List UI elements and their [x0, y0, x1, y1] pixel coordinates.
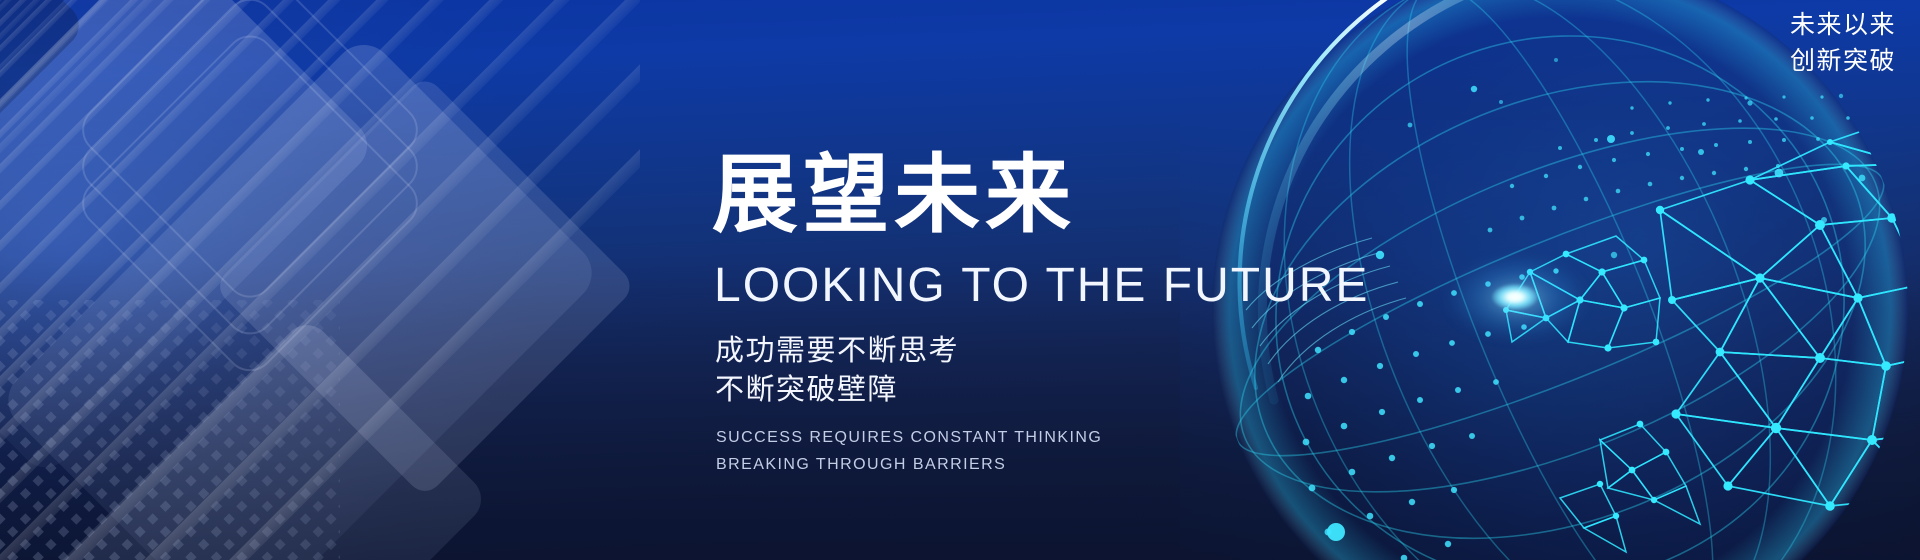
banner-root: 展望未来 LOOKING TO THE FUTURE 成功需要不断思考 不断突破…	[0, 0, 1920, 560]
headline-english: LOOKING TO THE FUTURE	[714, 262, 1472, 310]
headline-chinese: 展望未来	[712, 152, 1472, 238]
subtitle-chinese-line-2: 不断突破壁障	[715, 371, 1472, 410]
subtitle-english-group: SUCCESS REQUIRES CONSTANT THINKING BREAK…	[716, 424, 1472, 479]
subtitle-english-line-2: BREAKING THROUGH BARRIERS	[716, 451, 1472, 479]
headline-block: 展望未来 LOOKING TO THE FUTURE 成功需要不断思考 不断突破…	[712, 152, 1472, 479]
subtitle-english-line-1: SUCCESS REQUIRES CONSTANT THINKING	[716, 424, 1472, 452]
corner-slogan-line-2: 创新突破	[1790, 44, 1896, 80]
subtitle-chinese-group: 成功需要不断思考 不断突破壁障	[715, 332, 1472, 410]
corner-slogan: 未来以来 创新突破	[1790, 8, 1896, 79]
corner-slogan-line-1: 未来以来	[1790, 8, 1896, 44]
subtitle-chinese-line-1: 成功需要不断思考	[715, 332, 1472, 371]
